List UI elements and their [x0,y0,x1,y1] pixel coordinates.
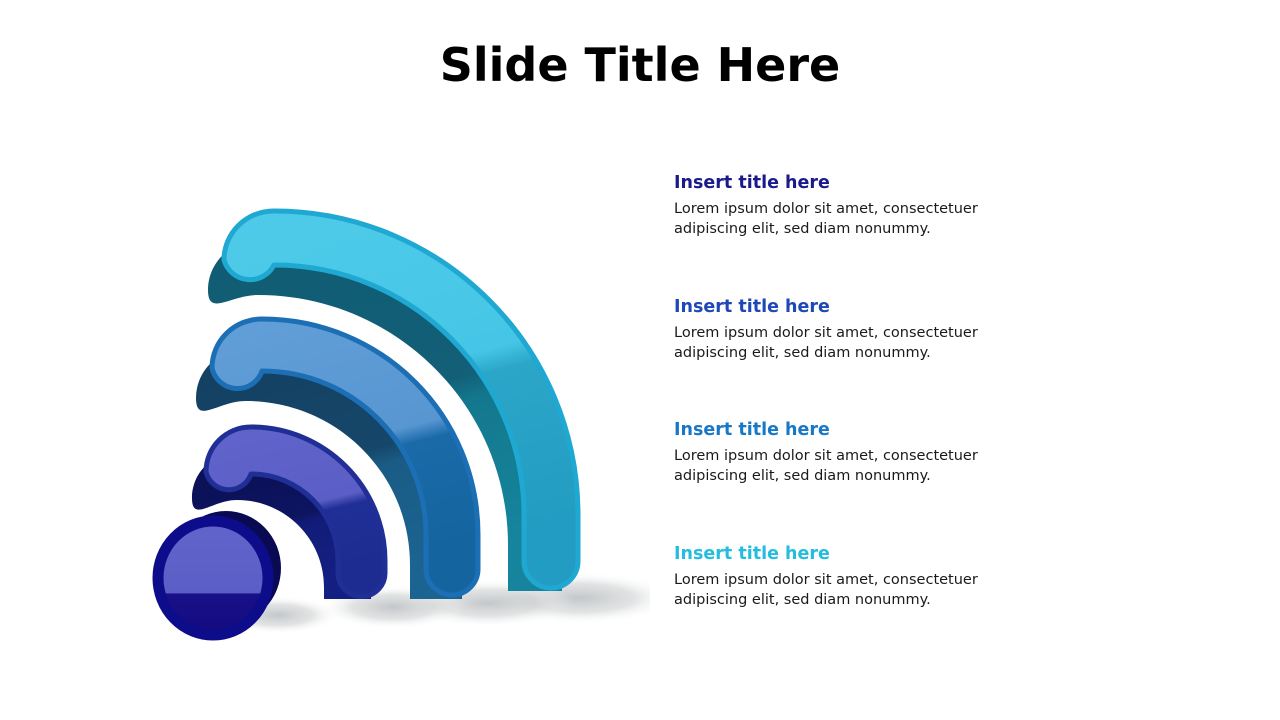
block-body-1: Lorem ipsum dolor sit amet, consectetuer… [674,199,979,239]
content-block-3: Insert title here Lorem ipsum dolor sit … [674,419,994,486]
content-block-1: Insert title here Lorem ipsum dolor sit … [674,172,994,239]
block-title-4: Insert title here [674,543,994,565]
slide-canvas: Slide Title Here [0,0,1280,720]
wifi-signal-graphic [150,175,650,645]
page-title: Slide Title Here [0,36,1280,94]
content-block-4: Insert title here Lorem ipsum dolor sit … [674,543,994,610]
wifi-signal-svg [150,175,650,645]
block-body-3: Lorem ipsum dolor sit amet, consectetuer… [674,446,979,486]
block-title-1: Insert title here [674,172,994,194]
block-body-4: Lorem ipsum dolor sit amet, consectetuer… [674,570,979,610]
content-block-2: Insert title here Lorem ipsum dolor sit … [674,296,994,363]
block-body-2: Lorem ipsum dolor sit amet, consectetuer… [674,323,979,363]
block-title-2: Insert title here [674,296,994,318]
block-title-3: Insert title here [674,419,994,441]
